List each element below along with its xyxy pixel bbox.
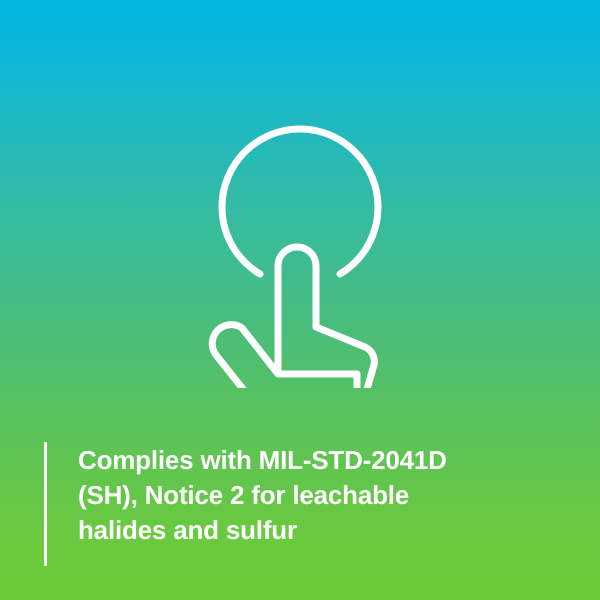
tap-hand-pointer-graphic (200, 78, 400, 388)
promo-banner: Complies with MIL-STD-2041D (SH), Notice… (0, 0, 600, 600)
caption-accent-rule (44, 442, 47, 566)
caption-text: Complies with MIL-STD-2041D (SH), Notice… (78, 442, 447, 568)
ring-arc-left (222, 129, 378, 274)
caption-block: Complies with MIL-STD-2041D (SH), Notice… (44, 442, 564, 568)
tap-hand-pointer-icon (200, 78, 400, 388)
